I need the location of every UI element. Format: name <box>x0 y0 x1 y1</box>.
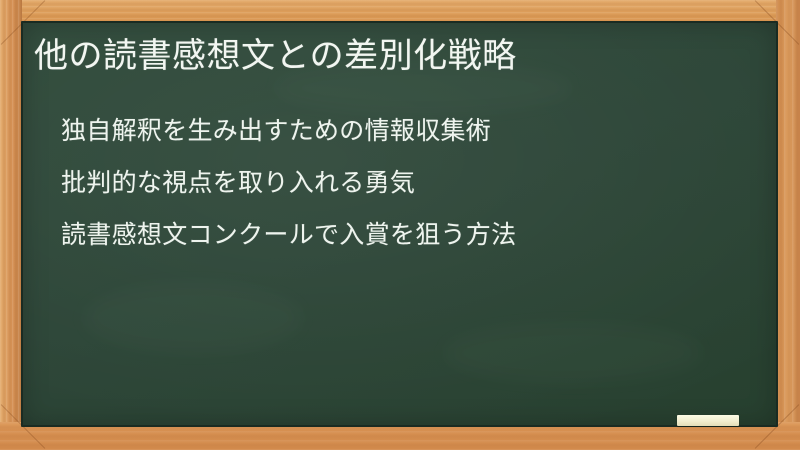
chalk-smudge <box>443 323 703 383</box>
blackboard-slide: 他の読書感想文との差別化戦略 独自解釈を生み出すための情報収集術 批判的な視点を… <box>0 0 800 450</box>
frame-rail-left <box>0 0 22 450</box>
board-list-item-2: 批判的な視点を取り入れる勇気 <box>61 157 761 209</box>
frame-rail-top <box>0 0 800 22</box>
board-item-list: 独自解釈を生み出すための情報収集術 批判的な視点を取り入れる勇気 読書感想文コン… <box>61 105 761 261</box>
board-list-item-1: 独自解釈を生み出すための情報収集術 <box>61 105 761 157</box>
frame-rail-right <box>776 0 800 450</box>
board-title: 他の読書感想文との差別化戦略 <box>34 31 764 81</box>
chalkboard-surface: 他の読書感想文との差別化戦略 独自解釈を生み出すための情報収集術 批判的な視点を… <box>23 23 776 425</box>
board-list-item-3: 読書感想文コンクールで入賞を狙う方法 <box>61 209 761 261</box>
chalk-smudge <box>83 283 303 353</box>
chalk-stick-icon <box>677 415 739 426</box>
